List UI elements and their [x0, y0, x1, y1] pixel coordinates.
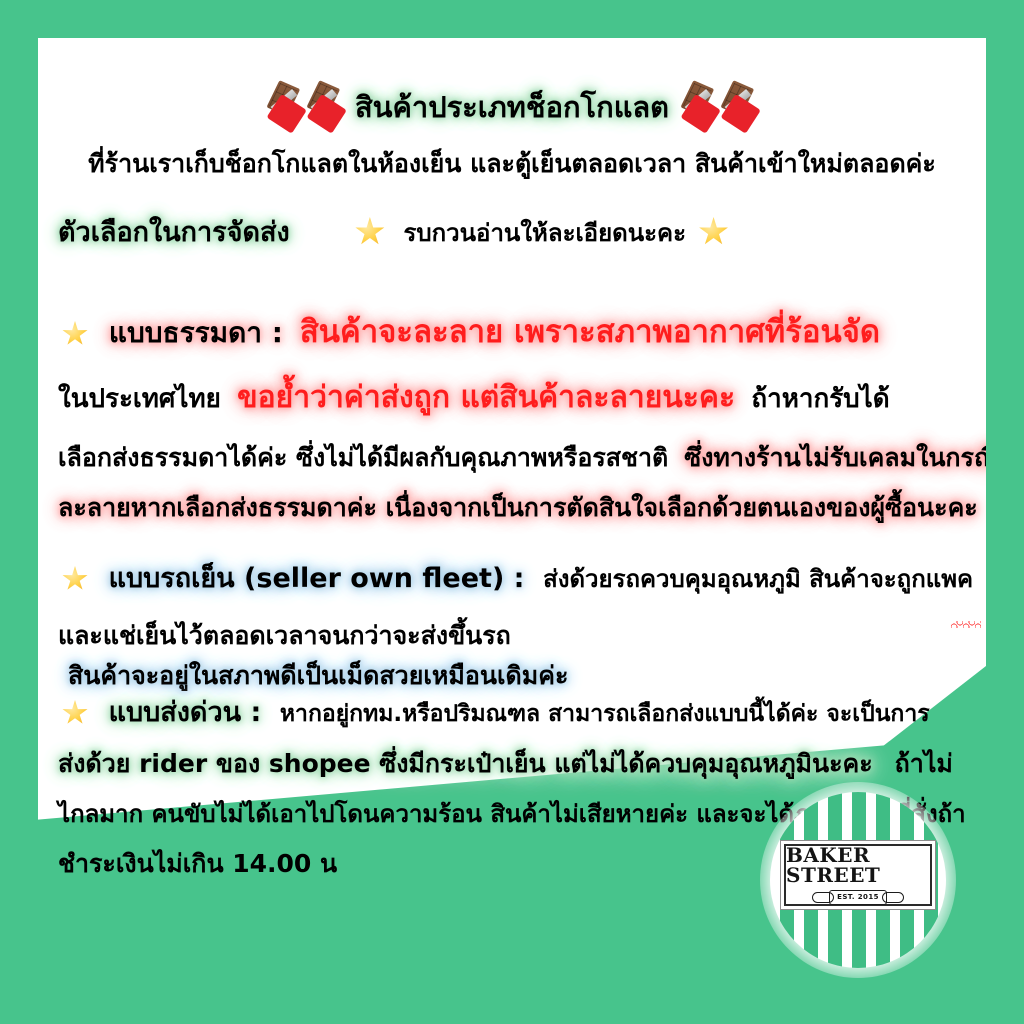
page-title: สินค้าประเภทช็อกโกแลต	[355, 90, 669, 124]
option-standard-line-4-row: ละลายหากเลือกส่งธรรมดาค่ะ เนื่องจากเป็นก…	[58, 488, 986, 528]
option-express-line-1: หากอยู่กทม.หรือปริมณฑล สามารถเลือกส่งแบบ…	[280, 701, 930, 727]
option-express-line-2a: ส่งด้วย rider ของ shopee ซึ่งมีกระเป๋าเย…	[58, 749, 873, 778]
star-icon	[62, 566, 88, 592]
option-standard-line-2c: ถ้าหากรับได้	[751, 384, 889, 414]
header-subtitle: ที่ร้านเราเก็บช็อกโกแลตในห้องเย็น และตู้…	[38, 144, 986, 184]
option-standard-line-3a: เลือกส่งธรรมดาได้ค่ะ ซึ่งไม่ได้มีผลกับคุ…	[58, 443, 668, 472]
shipping-options-label: ตัวเลือกในการจัดส่ง	[58, 217, 290, 248]
star-icon	[699, 217, 729, 247]
baker-street-logo: BAKER STREET EST. 2015	[770, 792, 946, 968]
rolling-pin-handle-left	[812, 892, 834, 903]
option-standard-line-1: สินค้าจะละลาย เพราะสภาพอากาศที่ร้อนจัด	[300, 314, 880, 350]
option-standard-line-4: ละลายหากเลือกส่งธรรมดาค่ะ เนื่องจากเป็นก…	[58, 493, 978, 522]
chocolate-bar-icon	[264, 82, 306, 130]
star-icon	[62, 321, 88, 347]
option-cold-truck-line-2a: และแช่เย็นไว้ตลอดเวลาจนกว่าจะส่งขึ้นรถ	[58, 621, 511, 650]
logo-nameplate: BAKER STREET EST. 2015	[784, 844, 932, 906]
option-standard-header: แบบธรรมดา : สินค้าจะละลาย เพราะสภาพอากาศ…	[58, 306, 986, 356]
rolling-pin-barrel: EST. 2015	[829, 890, 887, 905]
option-cold-truck-line-2-row: และแช่เย็นไว้ตลอดเวลาจนกว่าจะส่งขึ้นรถ ส…	[58, 616, 986, 696]
option-standard-line-2a: ในประเทศไทย	[58, 384, 221, 414]
logo-striped-circle: BAKER STREET EST. 2015	[770, 792, 946, 968]
star-icon	[355, 217, 385, 247]
option-express-line-2-row: ส่งด้วย rider ของ shopee ซึ่งมีกระเป๋าเย…	[58, 744, 986, 784]
poster-root: สินค้าประเภทช็อกโกแลต ที่ร้านเราเก็บช็อก…	[0, 0, 1024, 1024]
option-standard-line-2-row: ในประเทศไทย ขอย้ำว่าค่าส่งถูก แต่สินค้าล…	[58, 374, 986, 421]
header-title-row: สินค้าประเภทช็อกโกแลต	[38, 84, 986, 130]
white-content-card: สินค้าประเภทช็อกโกแลต ที่ร้านเราเก็บช็อก…	[38, 38, 986, 986]
logo-established-year: EST. 2015	[837, 894, 879, 901]
option-standard-line-3b: ซึ่งทางร้านไม่รับเคลมในกรณี	[684, 443, 986, 472]
option-cold-truck-header: แบบรถเย็น (seller own fleet) : ส่งด้วยรถ…	[58, 556, 986, 599]
star-icon	[62, 700, 88, 726]
option-standard-line-2b: ขอย้ำว่าค่าส่งถูก แต่สินค้าละลายนะคะ	[237, 380, 735, 415]
chocolate-bar-icon	[718, 82, 760, 130]
option-express-label: แบบส่งด่วน :	[109, 697, 262, 728]
option-standard-label: แบบธรรมดา :	[109, 316, 283, 349]
option-express-header: แบบส่งด่วน : หากอยู่กทม.หรือปริมณฑล สามา…	[58, 690, 986, 733]
shipping-options-heading-row: ตัวเลือกในการจัดส่ง รบกวนอ่านให้ละเอียดน…	[58, 210, 986, 253]
rolling-pin-icon: EST. 2015	[806, 890, 910, 905]
read-carefully-note: รบกวนอ่านให้ละเอียดนะคะ	[403, 219, 685, 247]
chocolate-bar-icon	[304, 82, 346, 130]
logo-brand-name: BAKER STREET	[786, 845, 930, 885]
option-standard-line-3-row: เลือกส่งธรรมดาได้ค่ะ ซึ่งไม่ได้มีผลกับคุ…	[58, 438, 986, 478]
option-express-line-2b: ถ้าไม่	[895, 749, 953, 778]
option-express-line-4: ชำระเงินไม่เกิน 14.00 น	[58, 849, 337, 878]
chocolate-bar-icon	[678, 82, 720, 130]
option-cold-truck-line-2b: สินค้าจะอยู่ในสภาพดีเป็นเม็ดสวยเหมือนเดิ…	[68, 661, 568, 690]
option-cold-truck-label: แบบรถเย็น (seller own fleet) :	[109, 563, 525, 594]
option-cold-truck-line-1: ส่งด้วยรถควบคุมอุณหภูมิ สินค้าจะถูกแพค	[543, 565, 973, 593]
rolling-pin-handle-right	[882, 892, 904, 903]
